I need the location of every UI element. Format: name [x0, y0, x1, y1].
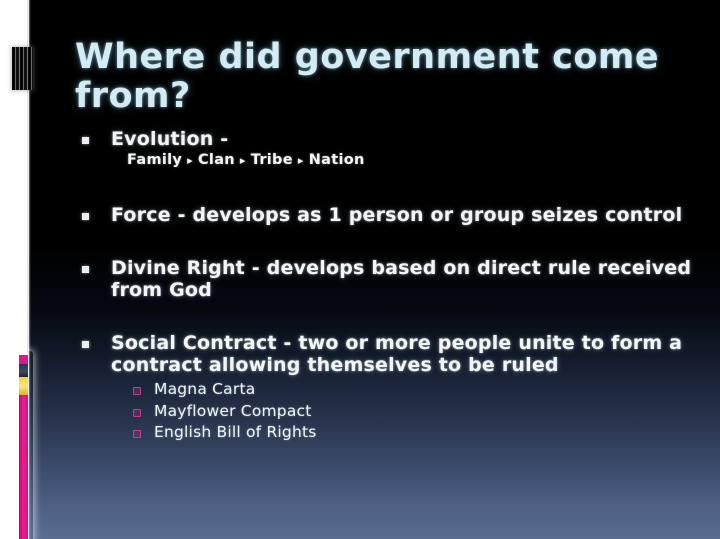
- circle-bullet-icon: [133, 430, 141, 438]
- bullet-text: Evolution -: [111, 128, 228, 150]
- bullet-row: Social Contract - two or more people uni…: [79, 332, 704, 377]
- pencil-band: [19, 364, 28, 377]
- chain-arrow-icon: ▸: [240, 154, 246, 167]
- striped-bar-icon: [12, 47, 33, 90]
- bullet-text: Force - develops as 1 person or group se…: [111, 204, 682, 226]
- chain-item-clan: Clan: [198, 152, 235, 168]
- evolution-chain: Family▸Clan▸Tribe▸Nation: [127, 152, 704, 168]
- chain-arrow-icon: ▸: [298, 154, 304, 167]
- bullet-row: Divine Right - develops based on direct …: [79, 257, 704, 302]
- bullet-list: Evolution - Family▸Clan▸Tribe▸Nation For…: [79, 128, 704, 443]
- sub-bullet-list: Magna Carta Mayflower Compact English Bi…: [127, 379, 704, 441]
- chain-item-family: Family: [127, 152, 182, 168]
- sub-list-item: Magna Carta: [127, 379, 704, 399]
- sub-list-item: English Bill of Rights: [127, 422, 704, 442]
- presentation-slide: Where did government come from? Evolutio…: [0, 0, 720, 539]
- bullet-item-social-contract: Social Contract - two or more people uni…: [79, 332, 704, 442]
- square-bullet-icon: [82, 266, 89, 273]
- circle-bullet-icon: [133, 409, 141, 417]
- square-bullet-icon: [82, 341, 89, 348]
- pencil-body: [19, 395, 28, 539]
- spacer: [79, 168, 704, 204]
- sub-bullet-text: Mayflower Compact: [154, 402, 312, 420]
- spacer: [79, 227, 704, 257]
- slide-canvas: Where did government come from? Evolutio…: [29, 0, 720, 539]
- bullet-row: Force - develops as 1 person or group se…: [79, 204, 704, 226]
- page-title: Where did government come from?: [75, 38, 695, 115]
- chain-item-tribe: Tribe: [251, 152, 293, 168]
- square-bullet-icon: [82, 213, 89, 220]
- chain-arrow-icon: ▸: [187, 154, 193, 167]
- bullet-row: Evolution -: [79, 128, 704, 150]
- circle-bullet-icon: [133, 387, 141, 395]
- bullet-text: Social Contract - two or more people uni…: [111, 332, 682, 376]
- spacer: [79, 302, 704, 332]
- pencil-icon: [19, 355, 28, 539]
- bullet-item-evolution: Evolution - Family▸Clan▸Tribe▸Nation: [79, 128, 704, 168]
- chain-item-nation: Nation: [309, 152, 365, 168]
- bullet-text: Divine Right - develops based on direct …: [111, 257, 691, 301]
- sub-bullet-text: Magna Carta: [154, 380, 255, 398]
- sub-list-item: Mayflower Compact: [127, 401, 704, 421]
- pencil-tip: [19, 355, 28, 364]
- sub-bullet-text: English Bill of Rights: [154, 423, 317, 441]
- pencil-ferrule: [19, 377, 28, 395]
- bullet-item-divine-right: Divine Right - develops based on direct …: [79, 257, 704, 302]
- square-bullet-icon: [82, 137, 89, 144]
- bullet-item-force: Force - develops as 1 person or group se…: [79, 204, 704, 226]
